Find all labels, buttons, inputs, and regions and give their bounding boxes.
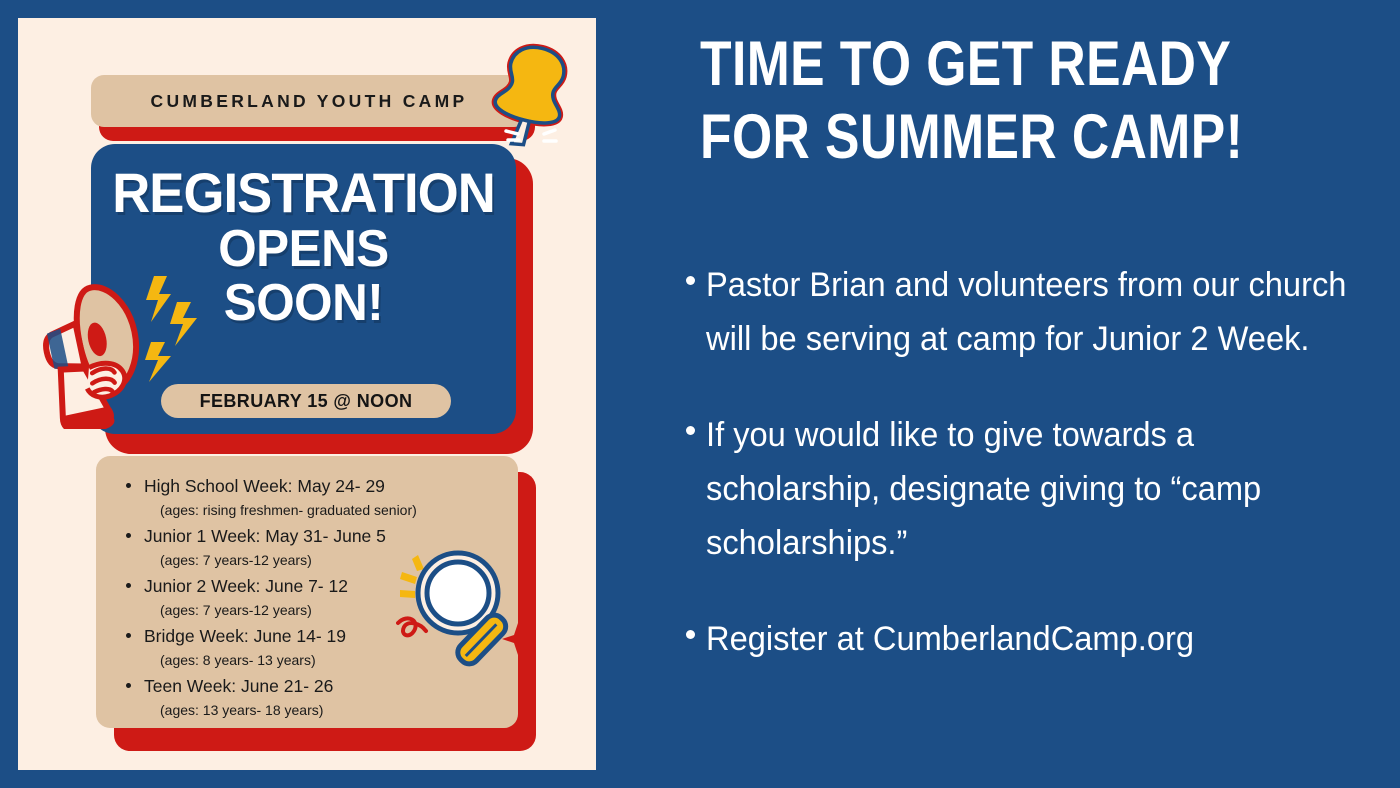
list-item: Junior 1 Week: May 31- June 5 (ages: 7 y… — [114, 524, 510, 572]
week-ages: (ages: 7 years-12 years) — [144, 599, 510, 622]
week-ages: (ages: rising freshmen- graduated senior… — [144, 499, 510, 522]
headline-line2: FOR SUMMER CAMP! — [700, 101, 1241, 174]
week-title: High School Week: May 24- 29 — [144, 474, 510, 499]
weeks-list: High School Week: May 24- 29 (ages: risi… — [114, 474, 510, 724]
week-title: Teen Week: June 21- 26 — [144, 674, 510, 699]
poster-header-banner: CUMBERLAND YOUTH CAMP — [91, 75, 527, 135]
right-content-panel: TIME TO GET READY FOR SUMMER CAMP! Pasto… — [640, 0, 1400, 788]
camp-weeks-panel: High School Week: May 24- 29 (ages: risi… — [96, 456, 536, 751]
bullet-dot-icon — [126, 583, 131, 588]
list-item: Teen Week: June 21- 26 (ages: 13 years- … — [114, 674, 510, 722]
bullet-text: Pastor Brian and volunteers from our chu… — [706, 258, 1366, 366]
bullet-dot-icon — [126, 533, 131, 538]
list-item: If you would like to give towards a scho… — [654, 408, 1394, 570]
bullet-dot-icon — [126, 633, 131, 638]
week-title: Bridge Week: June 14- 19 — [144, 624, 510, 649]
headline-line1: TIME TO GET READY — [700, 28, 1241, 101]
bullet-dot-icon — [126, 683, 131, 688]
week-ages: (ages: 7 years-12 years) — [144, 549, 510, 572]
bullet-text: Register at CumberlandCamp.org — [706, 612, 1366, 666]
registration-card: REGISTRATION OPENS SOON! FEBRUARY 15 @ N… — [91, 144, 533, 454]
banner-tan-plate: CUMBERLAND YOUTH CAMP — [91, 75, 527, 127]
list-item: Register at CumberlandCamp.org — [654, 612, 1394, 666]
registration-headline-line1: REGISTRATION — [104, 166, 504, 220]
camp-poster: CUMBERLAND YOUTH CAMP REGIST — [18, 18, 596, 770]
week-ages: (ages: 8 years- 13 years) — [144, 649, 510, 672]
bullet-dot-icon — [686, 426, 695, 435]
slide-root: CUMBERLAND YOUTH CAMP REGIST — [0, 0, 1400, 788]
bullet-text: If you would like to give towards a scho… — [706, 408, 1366, 570]
list-item: Pastor Brian and volunteers from our chu… — [654, 258, 1394, 366]
announcement-bullets: Pastor Brian and volunteers from our chu… — [654, 258, 1394, 708]
page-title: TIME TO GET READY FOR SUMMER CAMP! — [700, 28, 1241, 174]
camp-name-label: CUMBERLAND YOUTH CAMP — [151, 91, 468, 112]
list-item: High School Week: May 24- 29 (ages: risi… — [114, 474, 510, 522]
registration-date-label: FEBRUARY 15 @ NOON — [200, 391, 413, 412]
bullet-dot-icon — [686, 276, 695, 285]
week-title: Junior 2 Week: June 7- 12 — [144, 574, 510, 599]
bullet-dot-icon — [686, 630, 695, 639]
week-ages: (ages: 13 years- 18 years) — [144, 699, 510, 722]
megaphone-icon — [41, 254, 226, 429]
list-item: Bridge Week: June 14- 19 (ages: 8 years-… — [114, 624, 510, 672]
weeks-tan-panel: High School Week: May 24- 29 (ages: risi… — [96, 456, 518, 728]
pushpin-icon — [486, 39, 576, 149]
week-title: Junior 1 Week: May 31- June 5 — [144, 524, 510, 549]
list-item: Junior 2 Week: June 7- 12 (ages: 7 years… — [114, 574, 510, 622]
bullet-dot-icon — [126, 483, 131, 488]
